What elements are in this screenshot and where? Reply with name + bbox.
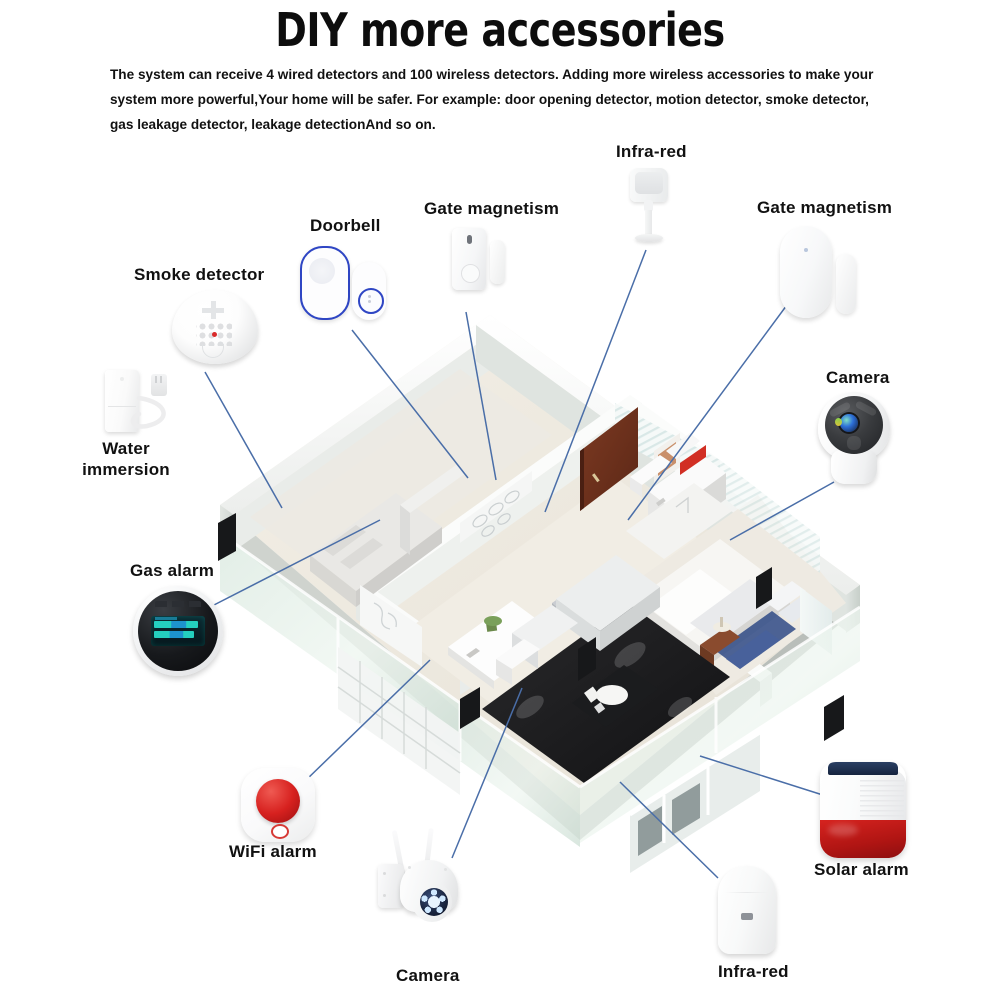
label-smoke-detector: Smoke detector: [134, 265, 264, 285]
gas-detector-icon: [133, 586, 223, 676]
door-contact-sensor-oval-icon: [780, 226, 866, 322]
pir-motion-sensor-wall-icon: [718, 866, 776, 954]
label-doorbell: Doorbell: [310, 216, 381, 236]
ptz-camera-icon: [378, 830, 474, 940]
wifi-siren-icon: [241, 768, 315, 842]
doorbell-icon: [300, 246, 392, 324]
label-gate-magnetism-right: Gate magnetism: [757, 198, 892, 218]
smoke-detector-icon: [172, 290, 258, 364]
pir-motion-sensor-icon: [630, 168, 676, 248]
label-water-immersion: Water immersion: [72, 438, 180, 480]
label-infra-red-top: Infra-red: [616, 142, 687, 162]
label-wifi-alarm: WiFi alarm: [229, 842, 317, 862]
label-solar-alarm: Solar alarm: [814, 860, 909, 880]
label-gate-magnetism-left: Gate magnetism: [424, 199, 559, 219]
label-camera-outdoor: Camera: [396, 966, 460, 986]
label-gas-alarm: Gas alarm: [130, 561, 214, 581]
indoor-camera-icon: [818, 392, 894, 488]
water-leak-sensor-icon: [105, 370, 175, 440]
label-infra-red-bottom: Infra-red: [718, 962, 789, 982]
label-camera-indoor: Camera: [826, 368, 890, 388]
solar-siren-icon: [820, 762, 906, 858]
door-contact-sensor-icon: [452, 228, 512, 296]
